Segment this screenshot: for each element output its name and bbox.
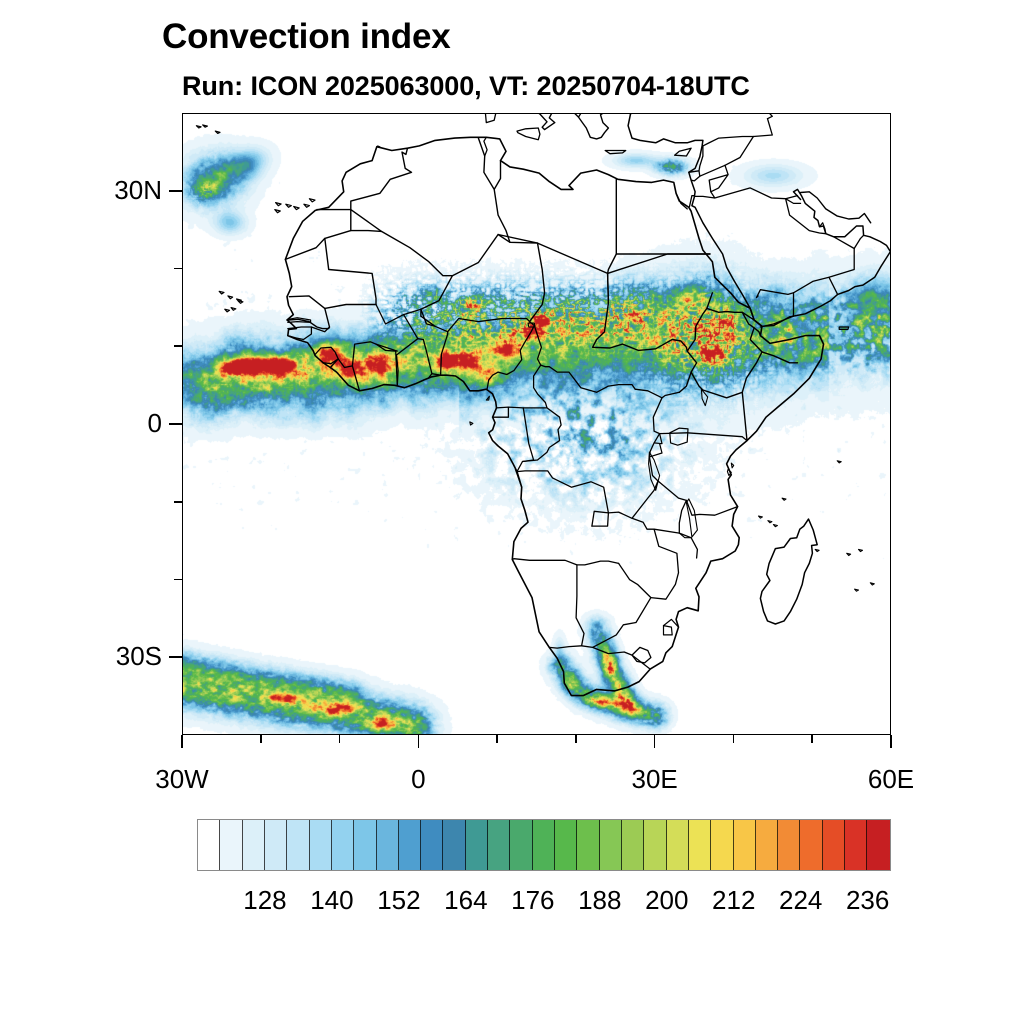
colorbar-cell <box>622 820 644 870</box>
map-line <box>731 463 733 468</box>
map-line <box>215 131 220 133</box>
y-tick-label: 30S <box>116 641 162 672</box>
colorbar-cell <box>734 820 756 870</box>
map-line <box>687 293 712 351</box>
map-line <box>709 165 728 192</box>
colorbar-cell <box>198 820 220 870</box>
map-line <box>628 114 762 326</box>
map-line <box>219 291 224 294</box>
colorbar[interactable] <box>198 820 890 870</box>
y-tick <box>169 190 182 192</box>
map-line <box>238 301 243 304</box>
map-line <box>549 646 581 648</box>
map-line <box>786 199 801 204</box>
map-line <box>839 327 849 329</box>
colorbar-cell <box>555 820 577 870</box>
x-tick <box>811 735 813 743</box>
x-tick-label: 0 <box>358 764 478 795</box>
colorbar-cell <box>778 820 800 870</box>
map-line <box>670 428 688 445</box>
map-line <box>484 114 497 123</box>
colorbar-cell <box>287 820 309 870</box>
map-line <box>421 276 453 310</box>
colorbar-cell <box>845 820 867 870</box>
colorbar-cell <box>488 820 510 870</box>
colorbar-tick-label: 236 <box>823 885 913 916</box>
map-line <box>523 408 534 462</box>
colorbar-cell <box>421 820 443 870</box>
map-plot-area <box>182 113 891 735</box>
map-line <box>404 315 418 339</box>
colorbar-cell <box>689 820 711 870</box>
page-title: Convection index <box>162 17 451 57</box>
map-line <box>707 308 754 320</box>
map-line <box>378 146 380 148</box>
map-line <box>679 533 697 558</box>
map-line <box>742 312 760 335</box>
map-line <box>517 365 561 472</box>
map-line <box>760 293 793 327</box>
map-line <box>325 238 376 304</box>
colorbar-cell <box>667 820 689 870</box>
map-line <box>703 137 754 146</box>
map-line <box>196 126 201 128</box>
map-line <box>619 563 651 597</box>
map-line <box>691 372 742 398</box>
map-line <box>679 351 696 392</box>
map-line <box>530 243 545 322</box>
map-line <box>448 319 530 332</box>
map-line <box>715 188 798 199</box>
map-line <box>605 151 626 154</box>
colorbar-cell <box>466 820 488 870</box>
map-line <box>753 119 772 137</box>
map-line <box>675 148 692 156</box>
map-line <box>498 235 608 303</box>
colorbar-cell <box>533 820 555 870</box>
map-line <box>815 549 819 551</box>
map-line <box>768 521 772 523</box>
map-line <box>859 549 863 551</box>
x-tick <box>339 735 341 743</box>
map-line <box>635 389 662 398</box>
y-tick <box>174 345 182 347</box>
map-line <box>687 433 747 441</box>
map-line <box>664 626 673 635</box>
colorbar-cell <box>310 820 332 870</box>
map-line <box>679 500 686 533</box>
map-line <box>592 513 609 526</box>
map-line <box>231 308 236 311</box>
map-line <box>487 322 534 390</box>
map-line <box>593 303 688 351</box>
map-line <box>608 254 710 303</box>
colorbar-cell <box>332 820 354 870</box>
map-line <box>582 598 651 648</box>
x-tick-label: 30W <box>122 764 242 795</box>
map-line <box>502 114 565 130</box>
y-tick <box>174 268 182 270</box>
y-tick <box>174 501 182 503</box>
map-line <box>847 553 851 555</box>
map-line <box>750 328 797 363</box>
map-line <box>651 529 679 599</box>
colorbar-cell <box>867 820 889 870</box>
map-line <box>576 561 619 646</box>
map-line <box>294 207 300 210</box>
map-line <box>746 114 772 119</box>
map-line <box>228 296 233 299</box>
colorbar-cell <box>711 820 733 870</box>
map-line <box>579 114 627 117</box>
colorbar-cell <box>800 820 822 870</box>
map-line <box>837 461 841 463</box>
colorbar-cell <box>354 820 376 870</box>
map-line <box>351 210 453 276</box>
colorbar-cell <box>243 820 265 870</box>
map-line <box>497 407 548 408</box>
colorbar-cell <box>644 820 666 870</box>
colorbar-cell <box>510 820 532 870</box>
x-tick <box>733 735 735 743</box>
map-line <box>649 452 660 490</box>
y-tick <box>169 656 182 658</box>
map-line <box>658 481 738 515</box>
map-line <box>616 179 710 254</box>
x-tick <box>260 735 262 743</box>
map-line <box>676 193 687 209</box>
colorbar-cell <box>265 820 287 870</box>
x-tick <box>496 735 498 743</box>
y-tick-label: 0 <box>148 408 162 439</box>
map-line <box>782 498 786 500</box>
map-line <box>351 231 382 232</box>
map-line <box>203 125 208 127</box>
y-tick <box>174 579 182 581</box>
map-line <box>423 340 432 378</box>
map-line <box>225 309 230 312</box>
x-tick <box>418 735 420 748</box>
map-line <box>517 128 540 140</box>
colorbar-cell <box>220 820 242 870</box>
map-line <box>486 396 489 400</box>
colorbar-cell <box>756 820 778 870</box>
x-tick <box>575 735 577 743</box>
map-line <box>829 277 838 294</box>
map-line <box>289 296 376 309</box>
map-line <box>660 433 688 434</box>
y-tick-label: 30N <box>114 175 162 206</box>
y-tick <box>169 423 182 425</box>
map-line <box>773 525 777 527</box>
map-line <box>632 647 651 663</box>
colorbar-cell <box>399 820 421 870</box>
map-line <box>760 519 817 624</box>
map-line <box>517 471 608 526</box>
colorbar-cell <box>600 820 622 870</box>
map-line <box>397 339 424 386</box>
x-tick <box>890 735 892 748</box>
map-line <box>432 332 448 376</box>
x-tick <box>654 735 656 748</box>
x-tick-label: 60E <box>831 764 951 795</box>
colorbar-cell <box>577 820 599 870</box>
map-line <box>854 235 863 248</box>
map-line <box>351 148 412 209</box>
colorbar-cell <box>443 820 465 870</box>
map-line <box>309 199 315 202</box>
map-line <box>494 161 510 243</box>
x-tick-label: 30E <box>595 764 715 795</box>
map-line <box>870 583 874 585</box>
colorbar-cell <box>377 820 399 870</box>
map-line <box>757 237 855 298</box>
map-line <box>759 516 763 518</box>
colorbar-cell <box>823 820 845 870</box>
map-line <box>470 422 473 425</box>
map-line <box>694 192 715 198</box>
page-subtitle: Run: ICON 2025063000, VT: 20250704-18UTC <box>182 71 750 102</box>
map-geography-overlay <box>183 114 891 735</box>
map-line <box>855 589 859 591</box>
map-line <box>304 204 310 207</box>
map-line <box>593 647 651 669</box>
map-line <box>276 203 282 206</box>
map-line <box>315 347 339 363</box>
map-line <box>275 210 281 213</box>
map-line <box>608 512 679 533</box>
map-line <box>512 559 577 565</box>
convection-index-figure: Convection index Run: ICON 2025063000, V… <box>0 0 1024 1024</box>
map-line <box>286 204 292 207</box>
map-line <box>534 326 635 393</box>
x-tick <box>181 735 183 748</box>
